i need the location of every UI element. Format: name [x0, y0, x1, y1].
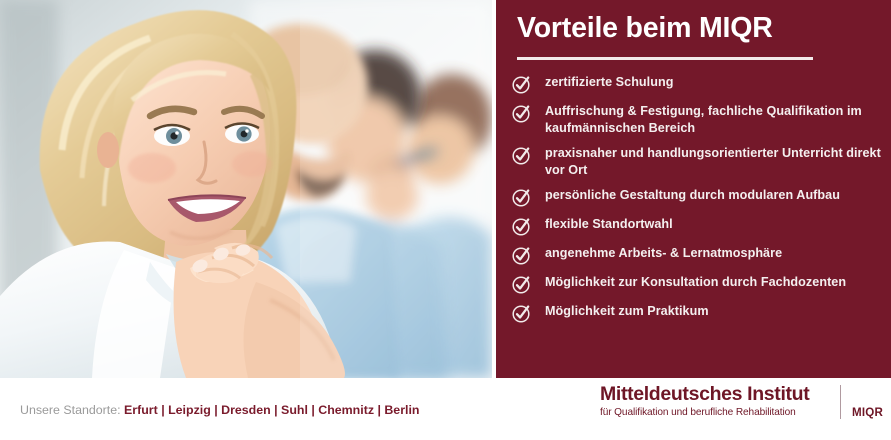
- list-item-label: Auffrischung & Festigung, fachliche Qual…: [545, 103, 884, 136]
- locations-line: Unsere Standorte: Erfurt | Leipzig | Dre…: [20, 403, 419, 417]
- check-circle-icon: [512, 304, 531, 323]
- list-item-label: persönliche Gestaltung durch modularen A…: [545, 187, 840, 204]
- hero-photo-illustration: [0, 0, 492, 378]
- list-item-label: praxisnaher und handlungsorientierter Un…: [545, 145, 884, 178]
- miqr-promo-banner: Vorteile beim MIQR zertifizierte Schulun…: [0, 0, 891, 440]
- check-circle-icon: [512, 75, 531, 94]
- logo-institute-name: Mitteldeutsches Institut: [600, 384, 832, 405]
- title-divider: [517, 57, 813, 60]
- list-item-label: Möglichkeit zum Praktikum: [545, 303, 709, 320]
- miqr-logo[interactable]: Mitteldeutsches Institut für Qualifikati…: [600, 384, 882, 422]
- hero-photo: [0, 0, 492, 378]
- check-circle-icon: [512, 146, 531, 165]
- logo-subtitle: für Qualifikation und berufliche Rehabil…: [600, 406, 832, 419]
- logo-abbreviation: MIQR: [852, 406, 883, 419]
- check-circle-icon: [512, 188, 531, 207]
- list-item: Auffrischung & Festigung, fachliche Qual…: [512, 103, 884, 136]
- list-item: zertifizierte Schulung: [512, 74, 884, 94]
- list-item: flexible Standortwahl: [512, 216, 884, 236]
- list-item-label: zertifizierte Schulung: [545, 74, 673, 91]
- check-circle-icon: [512, 275, 531, 294]
- list-item: angenehme Arbeits- & Lernatmosphäre: [512, 245, 884, 265]
- benefits-panel: Vorteile beim MIQR zertifizierte Schulun…: [496, 0, 891, 378]
- list-item: praxisnaher und handlungsorientierter Un…: [512, 145, 884, 178]
- page-title: Vorteile beim MIQR: [517, 12, 773, 45]
- benefits-list: zertifizierte Schulung Auffrischung & Fe…: [512, 74, 884, 323]
- locations-label: Unsere Standorte:: [20, 403, 121, 417]
- list-item-label: Möglichkeit zur Konsultation durch Fachd…: [545, 274, 846, 291]
- list-item: Möglichkeit zum Praktikum: [512, 303, 884, 323]
- check-circle-icon: [512, 217, 531, 236]
- locations-cities: Erfurt | Leipzig | Dresden | Suhl | Chem…: [124, 403, 419, 417]
- check-circle-icon: [512, 104, 531, 123]
- list-item: persönliche Gestaltung durch modularen A…: [512, 187, 884, 207]
- list-item: Möglichkeit zur Konsultation durch Fachd…: [512, 274, 884, 294]
- check-circle-icon: [512, 246, 531, 265]
- logo-divider: [840, 385, 841, 419]
- list-item-label: angenehme Arbeits- & Lernatmosphäre: [545, 245, 782, 262]
- list-item-label: flexible Standortwahl: [545, 216, 673, 233]
- logo-text-block: Mitteldeutsches Institut für Qualifikati…: [600, 384, 832, 419]
